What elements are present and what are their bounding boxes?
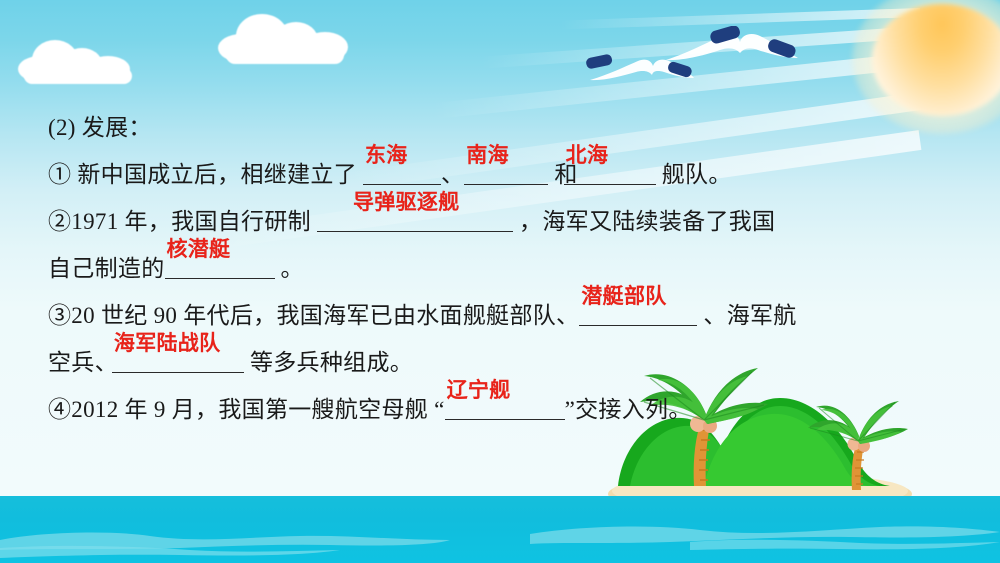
sun-icon — [872, 4, 1000, 116]
answer-donghai: 东海 — [365, 132, 408, 179]
seagull-icon — [586, 52, 696, 92]
static-text: 等多兵种组成。 — [244, 350, 413, 375]
static-text: 、海军航 — [697, 303, 796, 328]
static-text: 舰队。 — [656, 162, 732, 187]
answer-nanhai: 南海 — [466, 132, 509, 179]
static-text: 自己制造的 — [48, 256, 165, 281]
text-line-item-1: ① 新中国成立后，相继建立了 东海、南海 和北海 舰队。 — [48, 151, 978, 198]
static-text: ① 新中国成立后，相继建立了 — [48, 162, 363, 187]
answer-heqianting: 核潜艇 — [167, 226, 231, 273]
answer-qiantingbudui: 潜艇部队 — [581, 273, 666, 320]
heading-text: (2) 发展： — [48, 115, 152, 140]
answer-daodanquzhujian: 导弹驱逐舰 — [353, 179, 460, 226]
text-line-heading: (2) 发展： — [48, 104, 978, 151]
static-text: ④2012 年 9 月，我国第一艘航空母舰 “ — [48, 397, 445, 422]
static-text: 。 — [275, 256, 304, 281]
text-line-item-4: ④2012 年 9 月，我国第一艘航空母舰 “辽宁舰”交接入列。 — [48, 386, 978, 433]
text-line-item-2b: 自己制造的核潜艇 。 — [48, 245, 978, 292]
static-text: 空兵、 — [48, 350, 118, 375]
answer-beihai: 北海 — [566, 132, 609, 179]
static-text: ”交接入列。 — [565, 397, 692, 422]
ocean-waves — [0, 496, 1000, 563]
text-line-item-3b: 空兵、海军陆战队 等多兵种组成。 — [48, 339, 978, 386]
answer-haijunluzhandui: 海军陆战队 — [114, 320, 221, 367]
answer-liaoningjian: 辽宁舰 — [447, 367, 511, 414]
lesson-text-block: (2) 发展： ① 新中国成立后，相继建立了 东海、南海 和北海 舰队。 ②19… — [48, 104, 978, 433]
slide-canvas: (2) 发展： ① 新中国成立后，相继建立了 东海、南海 和北海 舰队。 ②19… — [0, 0, 1000, 563]
static-text: ，海军又陆续装备了我国 — [513, 209, 775, 234]
cloud-icon — [218, 12, 350, 62]
cloud-icon — [18, 34, 138, 80]
